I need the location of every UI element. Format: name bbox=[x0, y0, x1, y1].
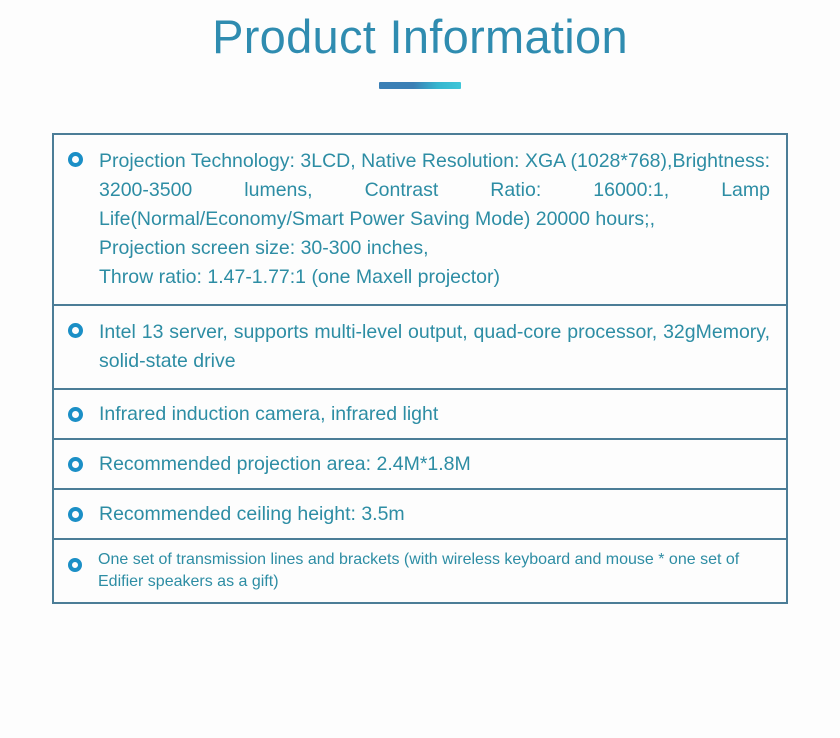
page-header: Product Information bbox=[0, 8, 840, 89]
table-row: One set of transmission lines and bracke… bbox=[54, 540, 786, 602]
spec-row-text-camera: Infrared induction camera, infrared ligh… bbox=[99, 400, 770, 429]
spec-row-text-projection: Projection Technology: 3LCD, Native Reso… bbox=[99, 147, 770, 292]
ring-bullet-icon bbox=[68, 558, 82, 572]
ring-bullet-icon bbox=[68, 152, 83, 167]
spec-row-text-projection-area: Recommended projection area: 2.4M*1.8M bbox=[99, 450, 770, 479]
title-divider bbox=[379, 82, 461, 89]
specification-table: Projection Technology: 3LCD, Native Reso… bbox=[52, 133, 788, 604]
table-row: Recommended projection area: 2.4M*1.8M bbox=[54, 440, 786, 490]
table-row: Infrared induction camera, infrared ligh… bbox=[54, 390, 786, 440]
table-row: Projection Technology: 3LCD, Native Reso… bbox=[54, 135, 786, 306]
product-information-page: Product Information Projection Technolog… bbox=[0, 0, 840, 738]
spec-row-text-server: Intel 13 server, supports multi-level ou… bbox=[99, 318, 770, 376]
ring-bullet-icon bbox=[68, 457, 83, 472]
table-row: Intel 13 server, supports multi-level ou… bbox=[54, 306, 786, 390]
ring-bullet-icon bbox=[68, 407, 83, 422]
ring-bullet-icon bbox=[68, 507, 83, 522]
spec-row-text-ceiling-height: Recommended ceiling height: 3.5m bbox=[99, 500, 770, 529]
page-title: Product Information bbox=[0, 8, 840, 66]
spec-row-text-accessories: One set of transmission lines and bracke… bbox=[98, 549, 770, 593]
table-row: Recommended ceiling height: 3.5m bbox=[54, 490, 786, 540]
ring-bullet-icon bbox=[68, 323, 83, 338]
